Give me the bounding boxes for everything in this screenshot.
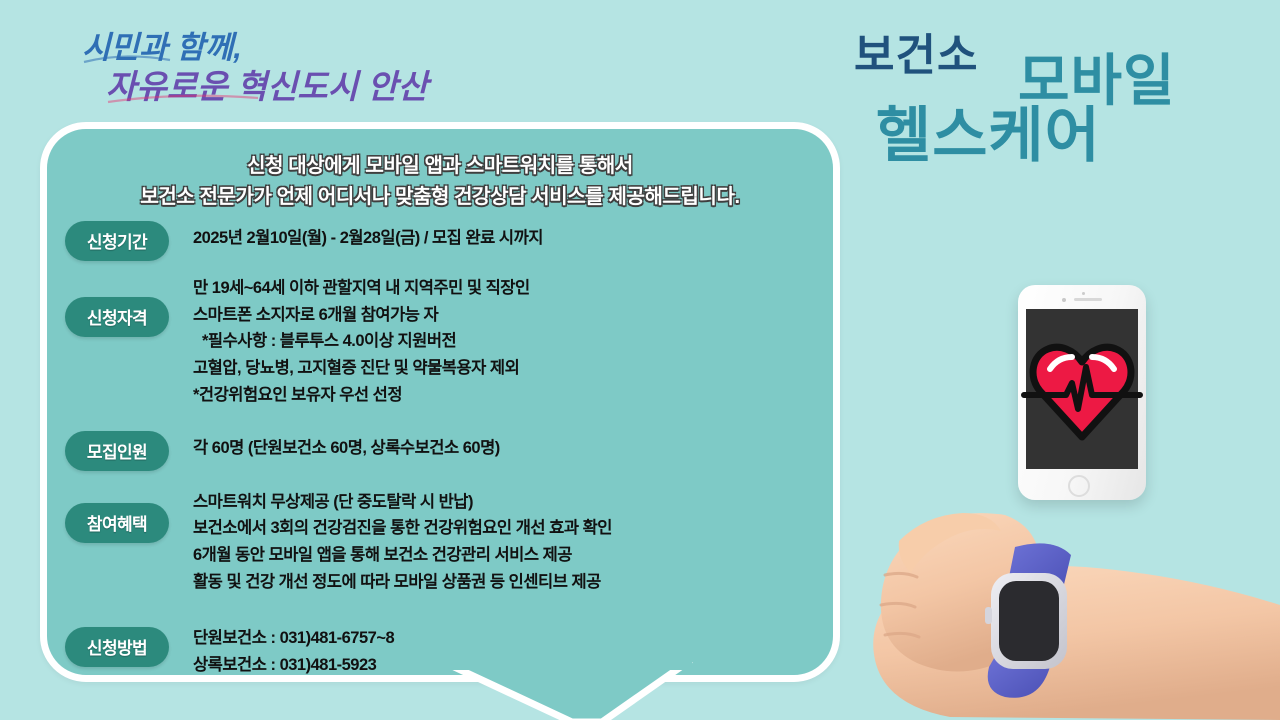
info-line: *건강위험요인 보유자 우선 선정: [193, 382, 835, 409]
info-body-quota: 각 60명 (단원보건소 60명, 상록수보건소 60명): [193, 431, 835, 462]
title-line-healthcare: 헬스케어: [876, 102, 1101, 169]
pill-label-qualify: 신청자격: [65, 297, 169, 337]
speech-bubble-panel: 신청 대상에게 모바일 앱과 스마트워치를 통해서 보건소 전문가가 언제 어디…: [40, 122, 840, 682]
info-line: 각 60명 (단원보건소 60명, 상록수보건소 60명): [193, 435, 835, 462]
title-line-bogeonso: 보건소: [854, 31, 978, 80]
watch-screen: [999, 581, 1059, 661]
headline-line-2: 보건소 전문가가 언제 어디서나 맞춤형 건강상담 서비스를 제공해드립니다.: [47, 182, 833, 213]
heart-rate-icon: [1030, 333, 1134, 445]
pill-label-period: 신청기간: [65, 221, 169, 261]
info-line: 스마트폰 소지자로 6개월 참여가능 자: [193, 302, 835, 329]
headline-line-1: 신청 대상에게 모바일 앱과 스마트워치를 통해서: [47, 151, 833, 182]
logo-text-ansan: 자유로운 혁신도시 안산: [106, 68, 433, 105]
info-line: 고혈압, 당뇨병, 고지혈증 진단 및 약물복용자 제외: [193, 355, 835, 382]
info-row-period: 신청기간 2025년 2월10일(월) - 2월28일(금) / 모집 완료 시…: [65, 221, 835, 261]
info-line: 만 19세~64세 이하 관할지역 내 지역주민 및 직장인: [193, 275, 835, 302]
info-body-qualify: 만 19세~64세 이하 관할지역 내 지역주민 및 직장인 스마트폰 소지자로…: [193, 271, 835, 409]
pill-label-quota: 모집인원: [65, 431, 169, 471]
info-line: 활동 및 건강 개선 정도에 따라 모바일 상품권 등 인센티브 제공: [193, 569, 835, 596]
phone-sensor-icon: [1082, 292, 1085, 295]
info-row-howto: 신청방법 단원보건소 : 031)481-6757~8 상록보건소 : 031)…: [65, 621, 835, 678]
info-line: 6개월 동안 모바일 앱을 통해 보건소 건강관리 서비스 제공: [193, 542, 835, 569]
info-line: *필수사항 : 블루투스 4.0이상 지원버전: [193, 328, 835, 355]
phone-camera-icon: [1062, 298, 1066, 302]
phone-earpiece-icon: [1074, 298, 1102, 301]
headline: 신청 대상에게 모바일 앱과 스마트워치를 통해서 보건소 전문가가 언제 어디…: [47, 151, 833, 213]
watch-crown: [985, 607, 992, 624]
info-line: 스마트워치 무상제공 (단 중도탈락 시 반납): [193, 489, 835, 516]
poster-title: 보건소 모바일 헬스케어: [840, 14, 1270, 214]
info-line-phone-danwon: 단원보건소 : 031)481-6757~8: [193, 625, 835, 652]
info-body-period: 2025년 2월10일(월) - 2월28일(금) / 모집 완료 시까지: [193, 221, 835, 252]
info-row-quota: 모집인원 각 60명 (단원보건소 60명, 상록수보건소 60명): [65, 431, 835, 471]
info-line: 보건소에서 3회의 건강검진을 통한 건강위험요인 개선 효과 확인: [193, 515, 835, 542]
smartphone-illustration: [1018, 285, 1146, 500]
speech-bubble-tail: [452, 666, 682, 720]
info-row-qualify: 신청자격 만 19세~64세 이하 관할지역 내 지역주민 및 직장인 스마트폰…: [65, 271, 835, 409]
info-line: 2025년 2월10일(월) - 2월28일(금) / 모집 완료 시까지: [193, 225, 835, 252]
info-body-benefit: 스마트워치 무상제공 (단 중도탈락 시 반납) 보건소에서 3회의 건강검진을…: [193, 485, 835, 596]
pill-label-howto: 신청방법: [65, 627, 169, 667]
phone-home-button: [1068, 475, 1090, 497]
info-list: 신청기간 2025년 2월10일(월) - 2월28일(금) / 모집 완료 시…: [65, 221, 835, 685]
info-row-benefit: 참여혜택 스마트워치 무상제공 (단 중도탈락 시 반납) 보건소에서 3회의 …: [65, 485, 835, 596]
pill-label-benefit: 참여혜택: [65, 503, 169, 543]
ansan-city-logo: 시민과 함께, 자유로운 혁신도시 안산: [78, 24, 468, 106]
